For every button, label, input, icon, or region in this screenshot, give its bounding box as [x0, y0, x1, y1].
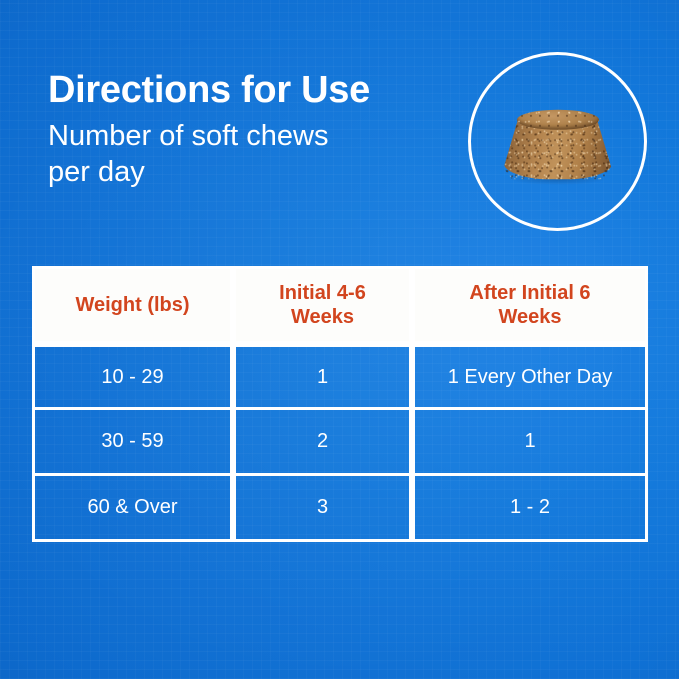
table-header: Weight (lbs) Initial 4-6 Weeks After Ini… [32, 266, 648, 344]
cell-after: 1 [412, 410, 648, 476]
table-row: 30 - 59 2 1 [32, 410, 648, 476]
table-header-row: Weight (lbs) Initial 4-6 Weeks After Ini… [32, 266, 648, 344]
cell-weight: 60 & Over [32, 476, 233, 542]
table-body: 10 - 29 1 1 Every Other Day 30 - 59 2 1 … [32, 344, 648, 542]
column-header-initial-line2: Weeks [291, 306, 354, 328]
table-row: 60 & Over 3 1 - 2 [32, 476, 648, 542]
dosing-table: Weight (lbs) Initial 4-6 Weeks After Ini… [32, 266, 648, 542]
cell-weight: 30 - 59 [32, 410, 233, 476]
cell-after: 1 Every Other Day [412, 344, 648, 410]
column-header-after-line1: After Initial 6 [469, 282, 590, 304]
product-image-circle [468, 52, 647, 231]
heading-block: Directions for Use Number of soft chews … [48, 70, 448, 190]
cell-weight: 10 - 29 [32, 344, 233, 410]
cell-initial: 2 [233, 410, 412, 476]
infographic-canvas: Directions for Use Number of soft chews … [0, 0, 679, 679]
column-header-weight: Weight (lbs) [32, 266, 233, 344]
chew-top-texture [517, 109, 599, 129]
page-subtitle: Number of soft chews per day [48, 119, 378, 190]
column-header-after-weeks: After Initial 6 Weeks [412, 266, 648, 344]
page-title: Directions for Use [48, 70, 448, 110]
cell-after: 1 - 2 [412, 476, 648, 542]
cell-initial: 3 [233, 476, 412, 542]
column-header-initial-line1: Initial 4-6 [279, 282, 366, 304]
soft-chew-icon [504, 109, 612, 179]
column-header-after-line2: Weeks [498, 306, 561, 328]
cell-initial: 1 [233, 344, 412, 410]
column-header-initial-weeks: Initial 4-6 Weeks [233, 266, 412, 344]
table-row: 10 - 29 1 1 Every Other Day [32, 344, 648, 410]
